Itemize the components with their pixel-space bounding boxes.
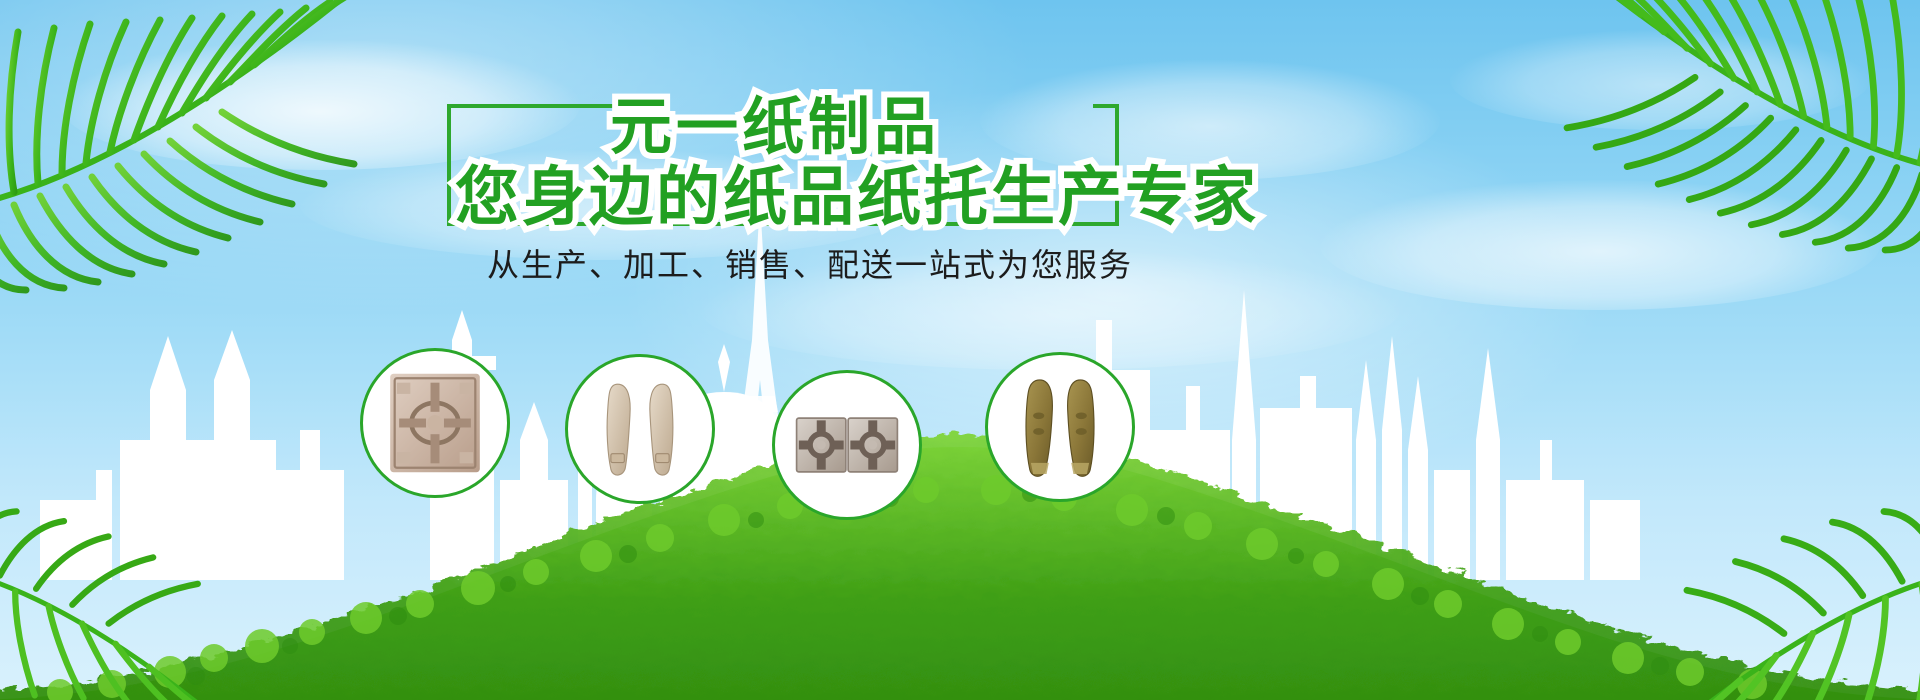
page-title-line2: 您身边的纸品纸托生产专家: [455, 146, 1259, 238]
paper-pulp-shoe-insert-pair-image: [1004, 371, 1116, 483]
product-thumb-1[interactable]: [360, 348, 510, 498]
paper-pulp-tray-square-image: [379, 367, 491, 479]
paper-pulp-tray-double-image: [791, 389, 903, 501]
promo-banner: 元一纸制品 您身边的纸品纸托生产专家 从生产、加工、销售、配送一站式为您服务: [0, 0, 1920, 700]
paper-pulp-shoe-tree-pair-image: [584, 373, 696, 485]
page-subtitle: 从生产、加工、销售、配送一站式为您服务: [487, 240, 1133, 286]
product-thumb-2[interactable]: [565, 354, 715, 504]
product-thumb-3[interactable]: [772, 370, 922, 520]
product-showcase: [0, 340, 1920, 700]
product-thumb-4[interactable]: [985, 352, 1135, 502]
